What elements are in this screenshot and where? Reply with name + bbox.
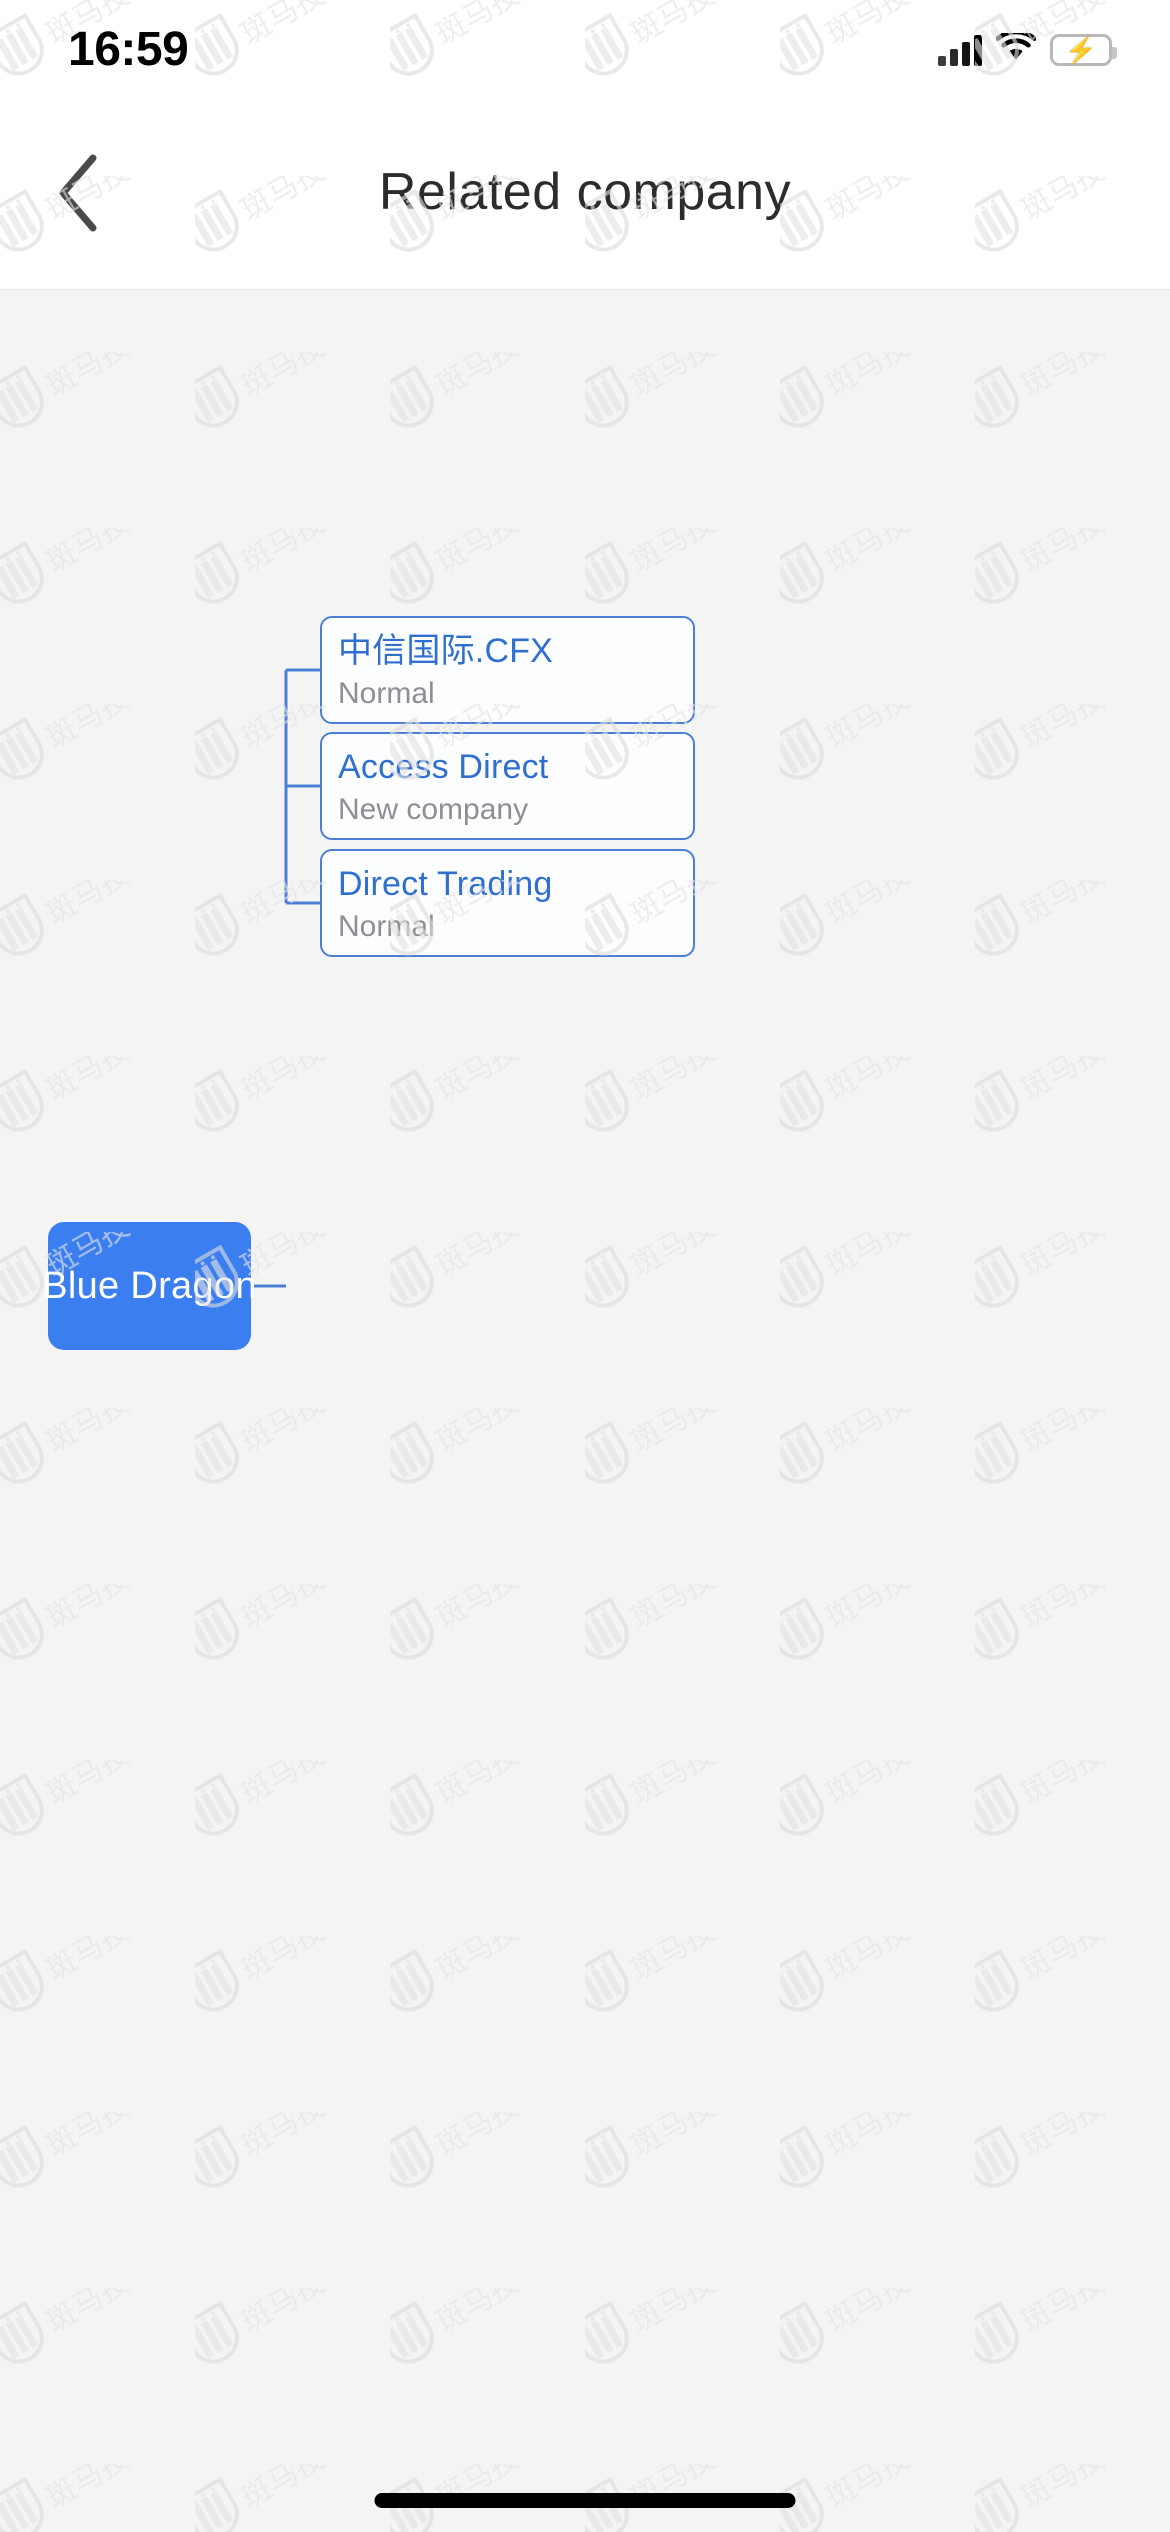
phone-screen: 16:59 ⚡ xyxy=(0,0,1170,2532)
navigation-bar: Related company xyxy=(0,100,1170,290)
page-title: Related company xyxy=(0,162,1170,222)
child-card-status: Normal xyxy=(338,910,677,945)
status-bar-time: 16:59 xyxy=(68,22,188,77)
home-indicator-bar[interactable] xyxy=(375,2493,796,2508)
org-chart-connectors xyxy=(0,291,1170,2441)
status-bar-indicators: ⚡ xyxy=(938,28,1112,72)
org-chart-child-card[interactable]: Access Direct New company xyxy=(320,732,695,840)
child-card-title: 中信国际.CFX xyxy=(338,632,677,671)
status-bar: 16:59 ⚡ xyxy=(0,0,1170,100)
org-chart-child-card[interactable]: 中信国际.CFX Normal xyxy=(320,616,695,724)
child-card-status: Normal xyxy=(338,677,677,712)
org-chart: Blue Dragon 中信国际.CFX Normal Access Direc… xyxy=(0,291,1170,2441)
wifi-icon xyxy=(996,33,1036,68)
root-node-label: Blue Dragon xyxy=(42,1265,257,1308)
child-card-title: Access Direct xyxy=(338,748,677,787)
cellular-signal-icon xyxy=(938,34,982,66)
battery-charging-icon: ⚡ xyxy=(1050,34,1112,66)
org-chart-child-card[interactable]: Direct Trading Normal xyxy=(320,849,695,957)
org-chart-root-node[interactable]: Blue Dragon xyxy=(48,1222,251,1350)
child-card-status: New company xyxy=(338,793,677,828)
child-card-title: Direct Trading xyxy=(338,865,677,904)
